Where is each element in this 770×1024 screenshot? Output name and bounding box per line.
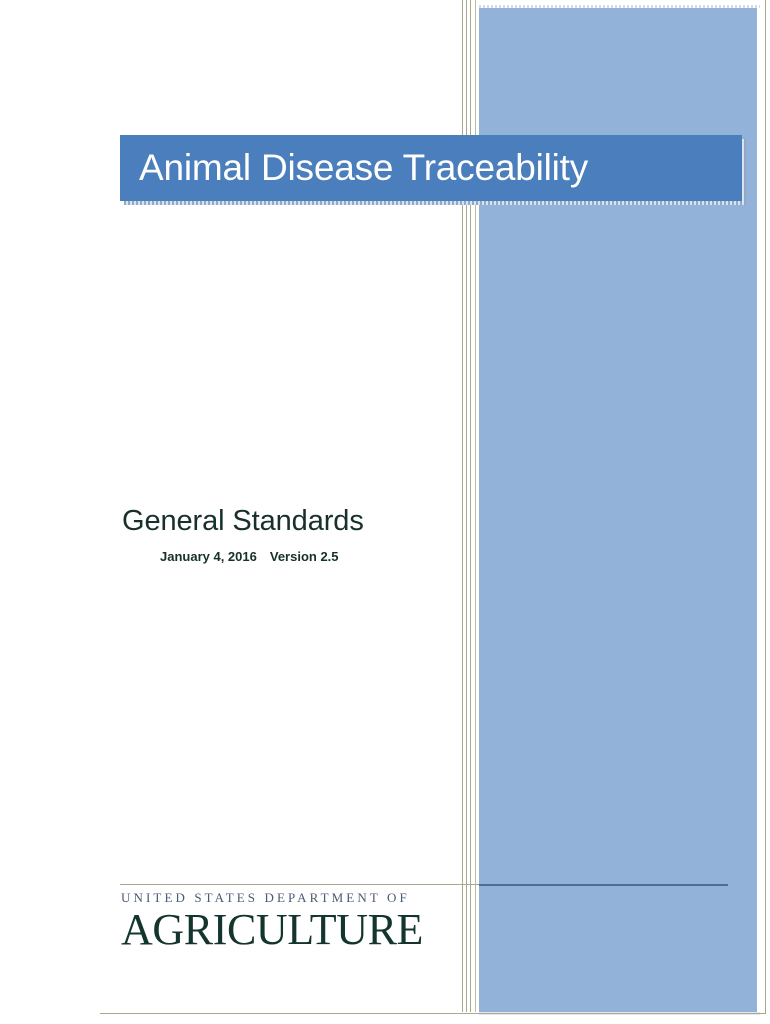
usda-logo-line-2: AGRICULTURE: [121, 907, 421, 953]
vertical-rule-right-margin: [765, 0, 766, 1014]
document-subtitle: General Standards: [122, 505, 364, 538]
document-cover-page: Animal Disease Traceability General Stan…: [0, 0, 770, 1024]
logo-divider-rule-over-panel: [479, 884, 728, 886]
page-title: Animal Disease Traceability: [120, 147, 588, 189]
document-date: January 4, 2016: [160, 549, 257, 564]
usda-logo: UNITED STATES DEPARTMENT OF AGRICULTURE: [121, 890, 421, 953]
title-banner: Animal Disease Traceability: [120, 135, 742, 201]
document-version: Version 2.5: [270, 549, 339, 564]
document-metadata: January 4, 2016Version 2.5: [160, 549, 339, 564]
horizontal-rule-bottom-margin: [100, 1013, 766, 1014]
usda-logo-line-1: UNITED STATES DEPARTMENT OF: [121, 890, 421, 906]
